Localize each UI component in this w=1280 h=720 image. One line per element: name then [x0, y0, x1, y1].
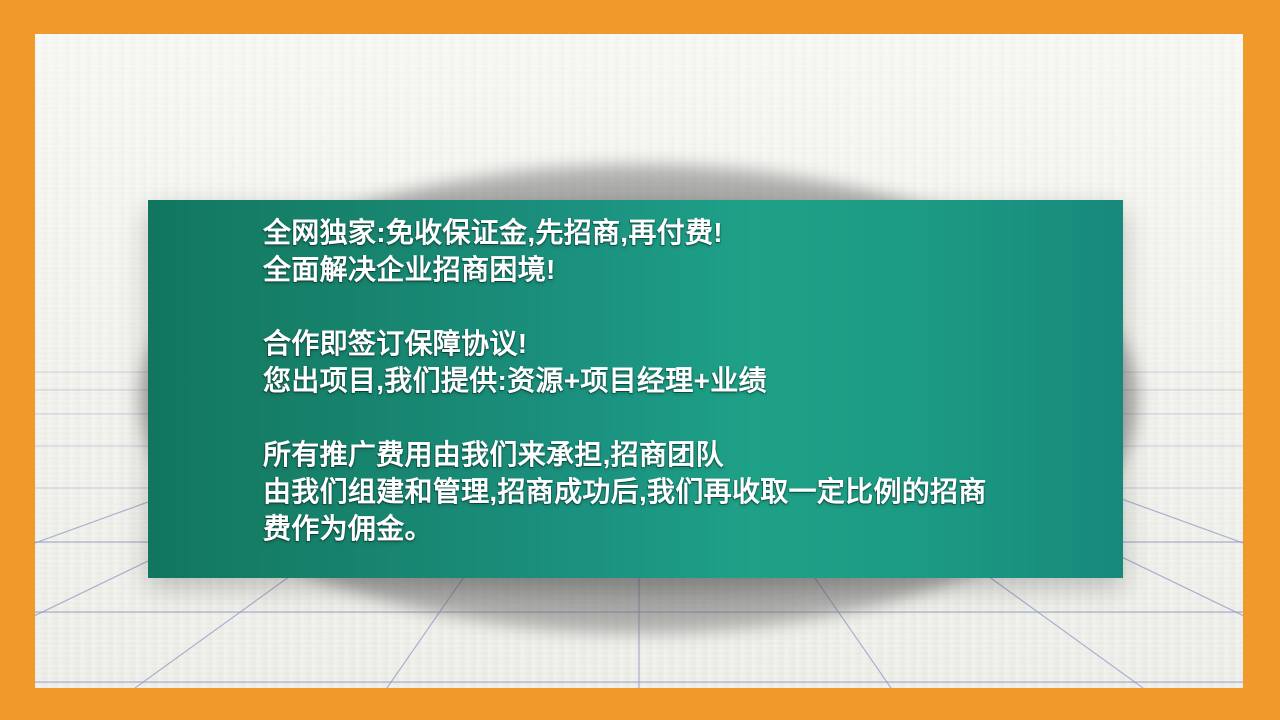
room-scene: 全网独家:免收保证金,先招商,再付费! 全面解决企业招商困境! 合作即签订保障协… — [35, 34, 1243, 688]
panel-line-2: 全面解决企业招商困境! — [263, 251, 1113, 288]
green-content-panel: 全网独家:免收保证金,先招商,再付费! 全面解决企业招商困境! 合作即签订保障协… — [148, 200, 1123, 578]
panel-line-4: 合作即签订保障协议! — [263, 325, 1113, 362]
slide-canvas: 全网独家:免收保证金,先招商,再付费! 全面解决企业招商困境! 合作即签订保障协… — [0, 0, 1280, 720]
panel-line-5: 您出项目,我们提供:资源+项目经理+业绩 — [263, 362, 1113, 399]
panel-line-8: 由我们组建和管理,招商成功后,我们再收取一定比例的招商 — [263, 473, 1113, 510]
panel-line-1: 全网独家:免收保证金,先招商,再付费! — [263, 214, 1113, 251]
panel-line-3-spacer — [263, 288, 1113, 325]
panel-line-9: 费作为佣金。 — [263, 510, 1113, 547]
panel-line-7: 所有推广费用由我们来承担,招商团队 — [263, 436, 1113, 473]
panel-line-6-spacer — [263, 399, 1113, 436]
panel-text-block: 全网独家:免收保证金,先招商,再付费! 全面解决企业招商困境! 合作即签订保障协… — [263, 214, 1113, 547]
